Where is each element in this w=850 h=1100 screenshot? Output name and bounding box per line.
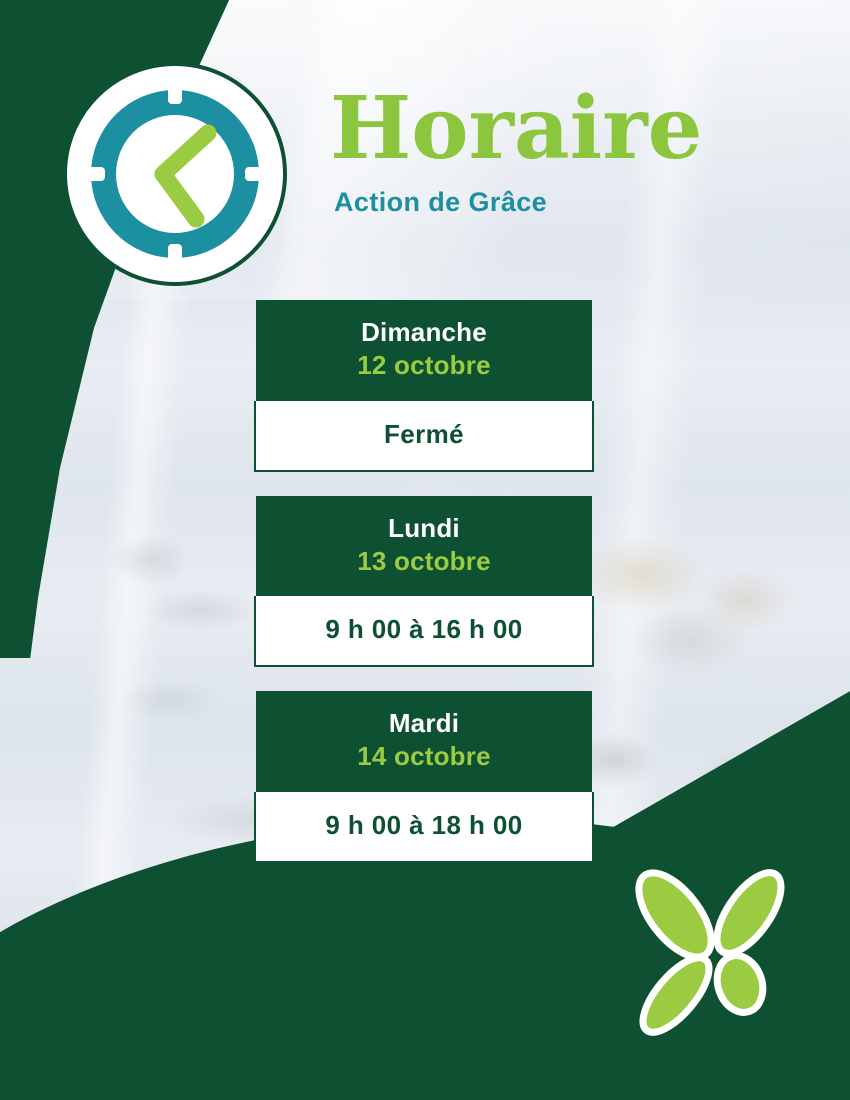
schedule-card: Dimanche 12 octobre Fermé bbox=[256, 300, 592, 472]
schedule-hours-label: 9 h 00 à 16 h 00 bbox=[256, 614, 592, 645]
schedule-date-label: 12 octobre bbox=[266, 349, 582, 382]
schedule-list: Dimanche 12 octobre Fermé Lundi 13 octob… bbox=[256, 300, 592, 863]
schedule-poster: Horaire Action de Grâce Dimanche 12 octo… bbox=[0, 0, 850, 1100]
schedule-card-header: Mardi 14 octobre bbox=[256, 691, 592, 792]
schedule-card-body: 9 h 00 à 16 h 00 bbox=[254, 596, 594, 667]
schedule-date-label: 13 octobre bbox=[266, 545, 582, 578]
schedule-card-header: Lundi 13 octobre bbox=[256, 496, 592, 597]
page-title: Horaire bbox=[330, 85, 790, 173]
schedule-card-body: 9 h 00 à 18 h 00 bbox=[254, 792, 594, 863]
schedule-day-label: Dimanche bbox=[266, 316, 582, 349]
schedule-hours-label: Fermé bbox=[256, 419, 592, 450]
schedule-date-label: 14 octobre bbox=[266, 740, 582, 773]
page-subtitle: Action de Grâce bbox=[334, 187, 790, 218]
schedule-day-label: Lundi bbox=[266, 512, 582, 545]
flower-icon bbox=[618, 855, 818, 1055]
schedule-card: Lundi 13 octobre 9 h 00 à 16 h 00 bbox=[256, 496, 592, 668]
schedule-day-label: Mardi bbox=[266, 707, 582, 740]
schedule-hours-label: 9 h 00 à 18 h 00 bbox=[256, 810, 592, 841]
clock-icon bbox=[63, 62, 287, 286]
schedule-card-header: Dimanche 12 octobre bbox=[256, 300, 592, 401]
schedule-card-body: Fermé bbox=[254, 401, 594, 472]
poster-header: Horaire Action de Grâce bbox=[330, 85, 790, 218]
schedule-card: Mardi 14 octobre 9 h 00 à 18 h 00 bbox=[256, 691, 592, 863]
